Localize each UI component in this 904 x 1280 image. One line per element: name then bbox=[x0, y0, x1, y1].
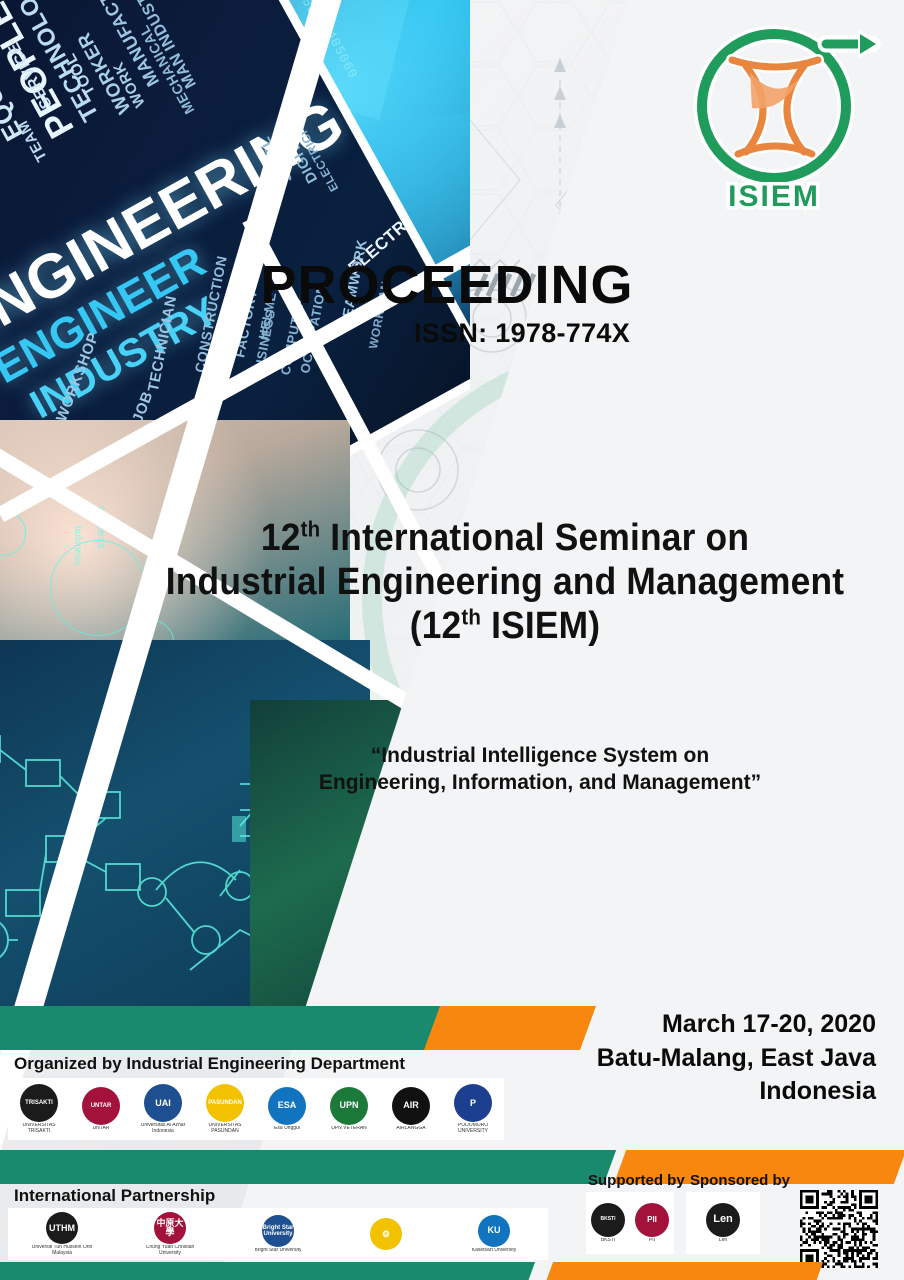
chung-yuan-christian-university-mark: 中原大學 bbox=[154, 1212, 186, 1244]
bright-star-university-caption: Bright Star University bbox=[255, 1248, 302, 1253]
logo-partner-institute: ⚙ bbox=[332, 1208, 440, 1260]
universitas-trisakti-mark: TRISAKTI bbox=[20, 1084, 58, 1122]
upn-veteran-mark: UPN bbox=[330, 1087, 368, 1125]
logo-universitas-esa-unggul: ESAEsa Unggul bbox=[256, 1078, 318, 1140]
issn-label: ISSN: 1978-774X bbox=[0, 318, 894, 349]
logo-universitas-pasundan: PASUNDANUNIVERSITAS PASUNDAN bbox=[194, 1078, 256, 1140]
sponsor-logo-row: LenLen bbox=[686, 1192, 760, 1254]
universitas-esa-unggul-mark: ESA bbox=[268, 1087, 306, 1125]
logo-universitas-airlangga: AIRAIRLANGGA bbox=[380, 1078, 442, 1140]
universitas-al-azhar-indonesia-mark: UAI bbox=[144, 1084, 182, 1122]
universitas-pasundan-caption: UNIVERSITAS PASUNDAN bbox=[198, 1123, 252, 1134]
pii-mark: PII bbox=[635, 1203, 669, 1237]
conference-title: 12th International Seminar on Industrial… bbox=[110, 516, 900, 648]
logo-len-industri: LenLen bbox=[686, 1192, 760, 1254]
band-teal-3 bbox=[0, 1262, 535, 1280]
logo-bright-star-university: Bright Star UniversityBright Star Univer… bbox=[224, 1208, 332, 1260]
universitas-airlangga-mark: AIR bbox=[392, 1087, 430, 1125]
kasetsart-university-mark: KU bbox=[478, 1215, 510, 1247]
universitas-airlangga-caption: AIRLANGGA bbox=[396, 1126, 425, 1131]
title-line-2: Industrial Engineering and Management (1… bbox=[138, 560, 873, 648]
logo-universitas-trisakti: TRISAKTIUNIVERSITAS TRISAKTI bbox=[8, 1078, 70, 1140]
len-industri-mark: Len bbox=[706, 1203, 740, 1237]
len-industri-caption: Len bbox=[719, 1238, 727, 1243]
qr-code[interactable] bbox=[800, 1190, 878, 1268]
logo-chung-yuan-christian-university: 中原大學Chung Yuan Christian University bbox=[116, 1208, 224, 1260]
proceeding-label: PROCEEDING bbox=[0, 258, 894, 312]
footer: Organized by Industrial Engineering Depa… bbox=[0, 1010, 904, 1280]
sponsored-by-label: Sponsored by bbox=[690, 1172, 790, 1189]
logo-uthm: UTHMUniversiti Tun Hussein Onn Malaysia bbox=[8, 1208, 116, 1260]
theme-line-2: Engineering, Information, and Management… bbox=[230, 769, 850, 796]
logo-untar: UNTARUNTAR bbox=[70, 1078, 132, 1140]
untar-caption: UNTAR bbox=[93, 1126, 110, 1131]
uthm-caption: Universiti Tun Hussein Onn Malaysia bbox=[30, 1245, 94, 1256]
pii-caption: PII bbox=[649, 1238, 655, 1243]
kasetsart-university-caption: Kasetsart University bbox=[472, 1248, 516, 1253]
podomoro-university-caption: PODOMORO UNIVERSITY bbox=[446, 1123, 500, 1134]
partner-logo-row: UTHMUniversiti Tun Hussein Onn Malaysia中… bbox=[8, 1208, 548, 1260]
logo-upn-veteran: UPNUPN VETERAN bbox=[318, 1078, 380, 1140]
isiem-logo: ISIEM ISIEM bbox=[676, 14, 886, 224]
bright-star-university-mark: Bright Star University bbox=[262, 1215, 294, 1247]
universitas-al-azhar-indonesia-caption: Universitas Al Azhar Indonesia bbox=[136, 1123, 190, 1134]
universitas-trisakti-caption: UNIVERSITAS TRISAKTI bbox=[12, 1123, 66, 1134]
uthm-mark: UTHM bbox=[46, 1212, 78, 1244]
bksti-mark: BKSTI bbox=[591, 1203, 625, 1237]
theme-line-1: “Industrial Intelligence System on bbox=[230, 742, 850, 769]
title-line-1: 12th International Seminar on bbox=[138, 516, 873, 560]
supported-by-label: Supported by bbox=[588, 1172, 685, 1189]
band-teal-2 bbox=[0, 1150, 616, 1184]
untar-mark: UNTAR bbox=[82, 1087, 120, 1125]
partner-institute-mark: ⚙ bbox=[370, 1218, 402, 1250]
supporter-logo-row: BKSTIBKSTIPIIPII bbox=[586, 1192, 674, 1254]
universitas-esa-unggul-caption: Esa Unggul bbox=[274, 1126, 300, 1131]
isiem-logo-text: ISIEM bbox=[728, 180, 820, 213]
podomoro-university-mark: P bbox=[454, 1084, 492, 1122]
chung-yuan-christian-university-caption: Chung Yuan Christian University bbox=[138, 1245, 202, 1256]
organized-by-label: Organized by Industrial Engineering Depa… bbox=[14, 1054, 405, 1074]
conference-proceeding-cover: ISIEM 010203040506 0102030405060 0102030… bbox=[0, 0, 904, 1280]
bksti-caption: BKSTI bbox=[601, 1238, 615, 1243]
international-partnership-label: International Partnership bbox=[14, 1186, 215, 1206]
organizer-logo-row: TRISAKTIUNIVERSITAS TRISAKTIUNTARUNTARUA… bbox=[8, 1078, 504, 1140]
conference-theme: “Industrial Intelligence System on Engin… bbox=[230, 742, 850, 797]
universitas-pasundan-mark: PASUNDAN bbox=[206, 1084, 244, 1122]
upn-veteran-caption: UPN VETERAN bbox=[331, 1126, 367, 1131]
proceeding-block: PROCEEDING ISSN: 1978-774X bbox=[0, 258, 904, 349]
logo-kasetsart-university: KUKasetsart University bbox=[440, 1208, 548, 1260]
band-orange-3 bbox=[543, 1262, 823, 1280]
logo-bksti: BKSTIBKSTI bbox=[586, 1192, 630, 1254]
logo-pii: PIIPII bbox=[630, 1192, 674, 1254]
logo-universitas-al-azhar-indonesia: UAIUniversitas Al Azhar Indonesia bbox=[132, 1078, 194, 1140]
logo-podomoro-university: PPODOMORO UNIVERSITY bbox=[442, 1078, 504, 1140]
